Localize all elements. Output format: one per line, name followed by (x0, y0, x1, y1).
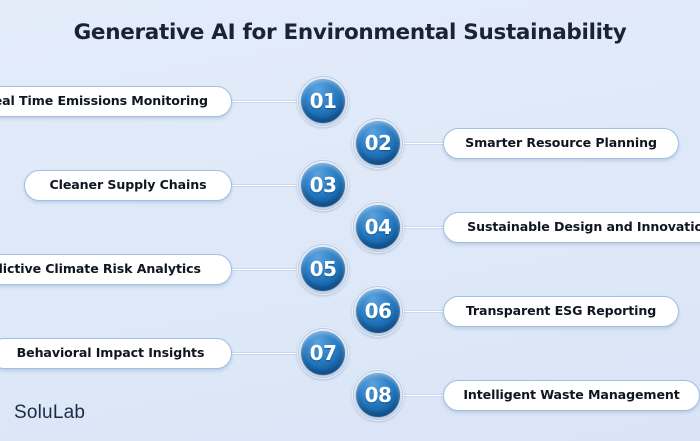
step-label-pill-07[interactable]: Behavioral Impact Insights (0, 338, 232, 369)
process-step-row: Intelligent Waste Management08 (0, 369, 700, 421)
step-label-text: Smarter Resource Planning (465, 137, 657, 150)
badge-inner-circle: 08 (356, 373, 400, 417)
step-number-badge-08[interactable]: 08 (352, 369, 404, 421)
step-label-pill-02[interactable]: Smarter Resource Planning (443, 128, 679, 159)
step-label-pill-01[interactable]: Real Time Emissions Monitoring (0, 86, 232, 117)
step-label-pill-06[interactable]: Transparent ESG Reporting (443, 296, 679, 327)
step-number-text: 01 (310, 91, 337, 111)
step-number-text: 08 (365, 385, 392, 405)
page-title: Generative AI for Environmental Sustaina… (0, 20, 700, 45)
step-number-text: 05 (310, 259, 337, 279)
step-number-text: 03 (310, 175, 337, 195)
step-label-text: Transparent ESG Reporting (466, 305, 656, 318)
step-number-text: 02 (365, 133, 392, 153)
step-label-text: Cleaner Supply Chains (49, 179, 206, 192)
step-label-pill-05[interactable]: Predictive Climate Risk Analytics (0, 254, 232, 285)
step-label-text: Predictive Climate Risk Analytics (0, 263, 201, 276)
connector-line (226, 268, 303, 271)
step-number-text: 04 (365, 217, 392, 237)
connector-line (226, 184, 303, 187)
step-label-text: Intelligent Waste Management (463, 389, 679, 402)
infographic-canvas: Generative AI for Environmental Sustaina… (0, 0, 700, 441)
connector-line (226, 352, 303, 355)
connector-line (226, 100, 303, 103)
step-number-text: 06 (365, 301, 392, 321)
step-label-pill-04[interactable]: Sustainable Design and Innovation (443, 212, 700, 243)
step-label-pill-03[interactable]: Cleaner Supply Chains (24, 170, 232, 201)
step-label-pill-08[interactable]: Intelligent Waste Management (443, 380, 700, 411)
step-number-text: 07 (310, 343, 337, 363)
step-label-text: Behavioral Impact Insights (17, 347, 205, 360)
brand-logo: SoluLab (14, 402, 85, 424)
step-label-text: Real Time Emissions Monitoring (0, 95, 208, 108)
step-label-text: Sustainable Design and Innovation (467, 221, 700, 234)
